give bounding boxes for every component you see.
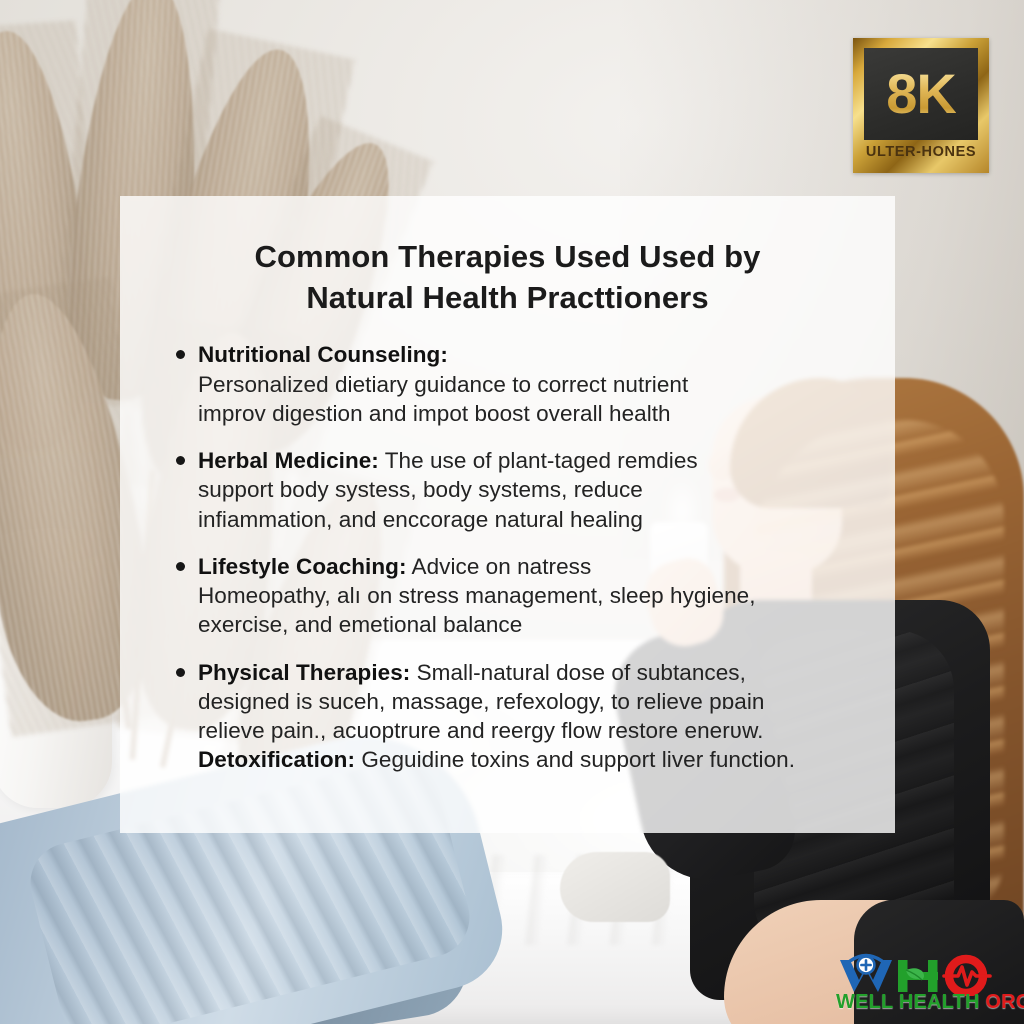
8k-quality-badge: 8K ULTER-HONES xyxy=(853,38,989,173)
list-item: Physical Therapies: Small-natural dose o… xyxy=(154,658,861,775)
bullet-dot-icon xyxy=(176,350,185,359)
title-line-1: Common Therapies Used Used by xyxy=(178,236,837,277)
logo-mark xyxy=(836,952,1018,996)
list-item-lead: Advice on natress xyxy=(412,554,592,579)
well-health-org-logo[interactable]: WELL HEALTH ORG xyxy=(836,952,1018,1020)
bullet-dot-icon xyxy=(176,456,185,465)
title-line-2: Natural Health Practtioners xyxy=(178,277,837,318)
list-item-text: Nutritional Counseling: Personalized die… xyxy=(198,340,853,428)
list-item-heading: Nutritional Counseling: xyxy=(198,342,448,367)
list-item-lead: The use of plant-taged remdies xyxy=(385,448,698,473)
list-item-line: exercise, and emetional balance xyxy=(198,610,853,639)
poster-canvas: Common Therapies Used Used by Natural He… xyxy=(0,0,1024,1024)
list-item: Lifestyle Coaching: Advice on natress Ho… xyxy=(154,552,861,640)
list-item-text: Herbal Medicine: The use of plant-taged … xyxy=(198,446,853,534)
bullet-dot-icon xyxy=(176,668,185,677)
list-item-line: relieve pain., acuoptrure and reergy flo… xyxy=(198,716,853,745)
bullet-dot-icon xyxy=(176,562,185,571)
therapy-list: Nutritional Counseling: Personalized die… xyxy=(120,318,895,774)
page-title: Common Therapies Used Used by Natural He… xyxy=(120,196,895,318)
list-item: Herbal Medicine: The use of plant-taged … xyxy=(154,446,861,534)
list-item-line: improv digestion and impot boost overall… xyxy=(198,399,853,428)
foot xyxy=(560,852,670,922)
list-item-heading: Physical Therapies: xyxy=(198,660,410,685)
badge-subtitle: ULTER-HONES xyxy=(853,144,989,160)
list-item-lead: Small-natural dose of subtances, xyxy=(417,660,746,685)
list-item-heading: Herbal Medicine: xyxy=(198,448,379,473)
logo-word-red: ORG xyxy=(980,991,1024,1013)
list-item-line: infiammation, and enccorage natural heal… xyxy=(198,505,853,534)
badge-inner-panel: 8K xyxy=(864,48,978,140)
list-item-line: designed is suceh, massage, refexology, … xyxy=(198,687,853,716)
logo-word-green: WELL HEALTH xyxy=(836,991,980,1013)
list-item-line: Homeopathy, alı on stress management, sl… xyxy=(198,581,853,610)
list-item-extra-text: Geguidine toxins and support liver funct… xyxy=(361,747,795,772)
content-card: Common Therapies Used Used by Natural He… xyxy=(120,196,895,833)
list-item-text: Physical Therapies: Small-natural dose o… xyxy=(198,658,853,775)
list-item-extra: Detoxification: Geguidine toxins and sup… xyxy=(198,745,853,774)
list-item: Nutritional Counseling: Personalized die… xyxy=(154,340,861,428)
list-item-extra-heading: Detoxification: xyxy=(198,747,355,772)
list-item-text: Lifestyle Coaching: Advice on natress Ho… xyxy=(198,552,853,640)
list-item-line: Personalized dietiary guidance to correc… xyxy=(198,370,853,399)
badge-number: 8K xyxy=(886,66,956,122)
list-item-heading: Lifestyle Coaching: xyxy=(198,554,406,579)
logo-wordmark: WELL HEALTH ORG xyxy=(836,992,1018,1012)
list-item-line: support body systess, body systems, redu… xyxy=(198,475,853,504)
